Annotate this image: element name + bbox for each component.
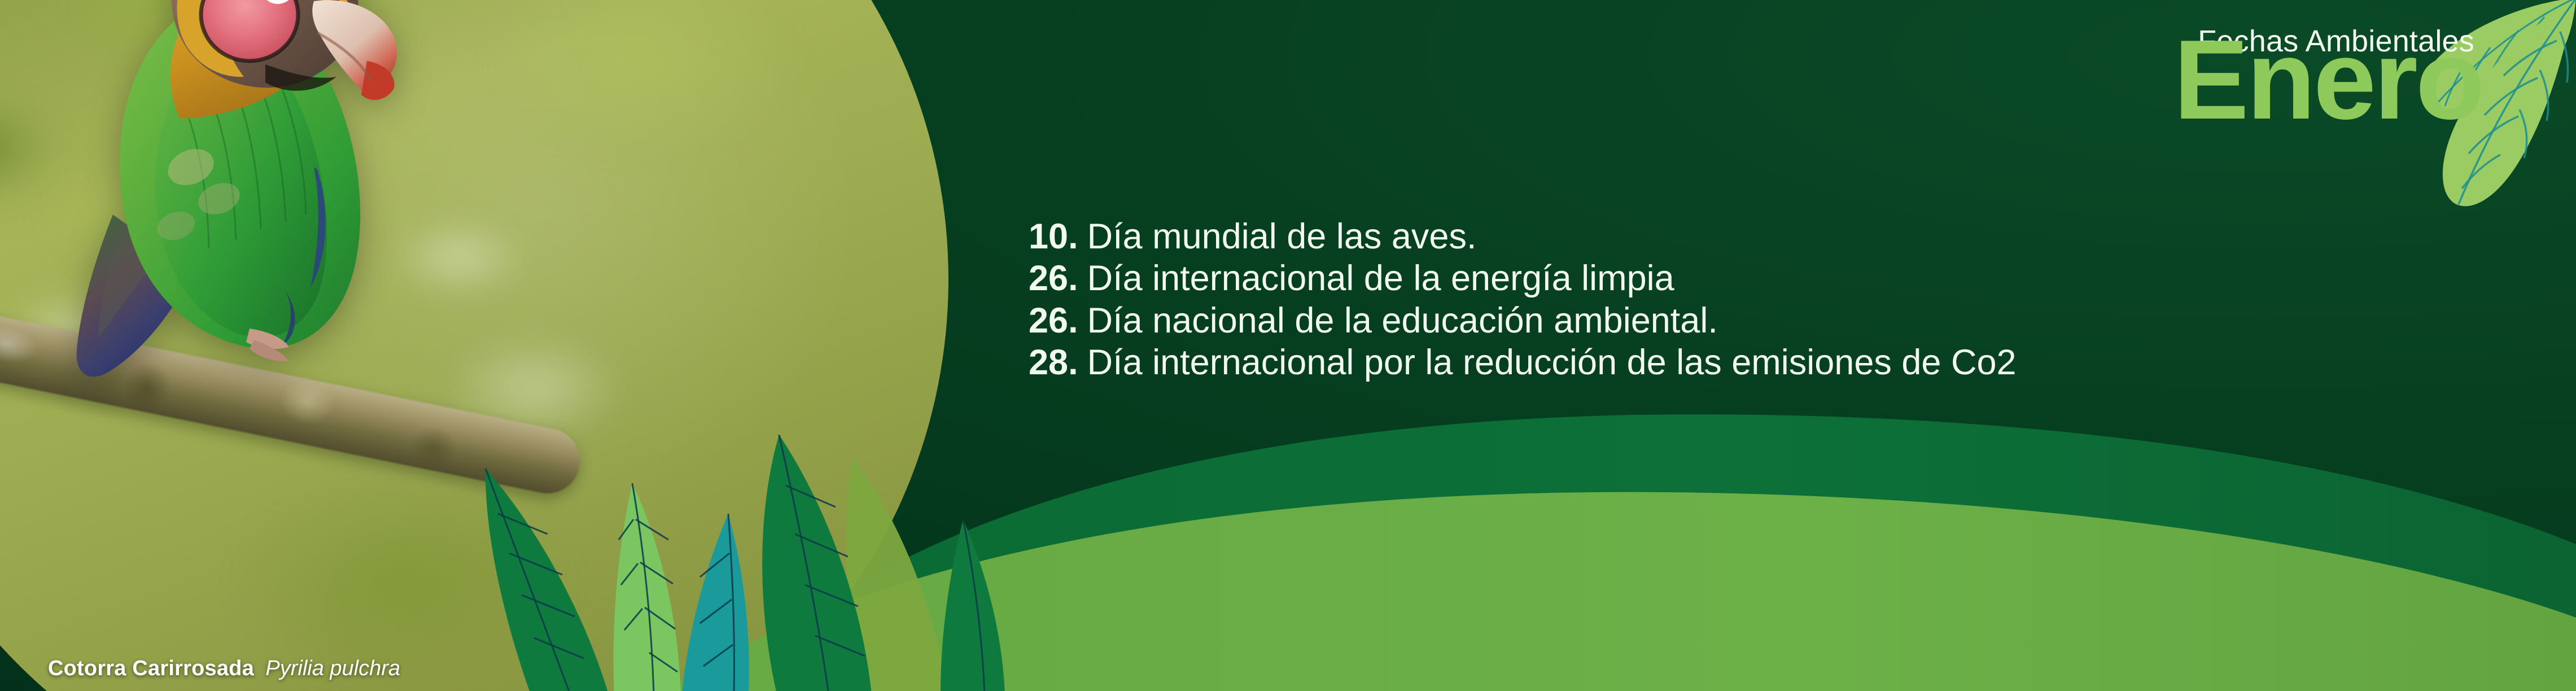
date-row: 28. Día internacional por la reducción d… bbox=[1029, 342, 2017, 383]
species-scientific-name: Pyrilia pulchra bbox=[265, 657, 400, 680]
date-day: 10. bbox=[1029, 216, 1078, 257]
date-description: Día nacional de la educación ambiental. bbox=[1087, 300, 1718, 342]
date-row: 10. Día mundial de las aves. bbox=[1029, 216, 2017, 257]
date-description: Día internacional de la energía limpia bbox=[1087, 257, 1674, 299]
species-common-name: Cotorra Carirrosada bbox=[48, 657, 254, 680]
parrot-photo-icon bbox=[28, 0, 469, 390]
decorative-curved-bands bbox=[0, 375, 2576, 691]
header-block: Fechas Ambientales Enero bbox=[2053, 8, 2522, 189]
date-day: 28. bbox=[1029, 342, 1078, 383]
date-description: Día mundial de las aves. bbox=[1087, 216, 1477, 257]
dates-list: 10. Día mundial de las aves. 26. Día int… bbox=[1029, 216, 2017, 383]
header-month-title: Enero bbox=[2173, 24, 2482, 137]
date-row: 26. Día internacional de la energía limp… bbox=[1029, 257, 2017, 299]
date-day: 26. bbox=[1029, 300, 1078, 342]
leaf-cluster-icon bbox=[463, 435, 1027, 691]
environmental-dates-banner: Fechas Ambientales Enero 10. Día mundial… bbox=[0, 0, 2576, 691]
date-day: 26. bbox=[1029, 257, 1078, 299]
date-row: 26. Día nacional de la educación ambient… bbox=[1029, 300, 2017, 342]
date-description: Día internacional por la reducción de la… bbox=[1087, 342, 2017, 383]
species-caption: Cotorra Carirrosada Pyrilia pulchra bbox=[48, 657, 400, 681]
